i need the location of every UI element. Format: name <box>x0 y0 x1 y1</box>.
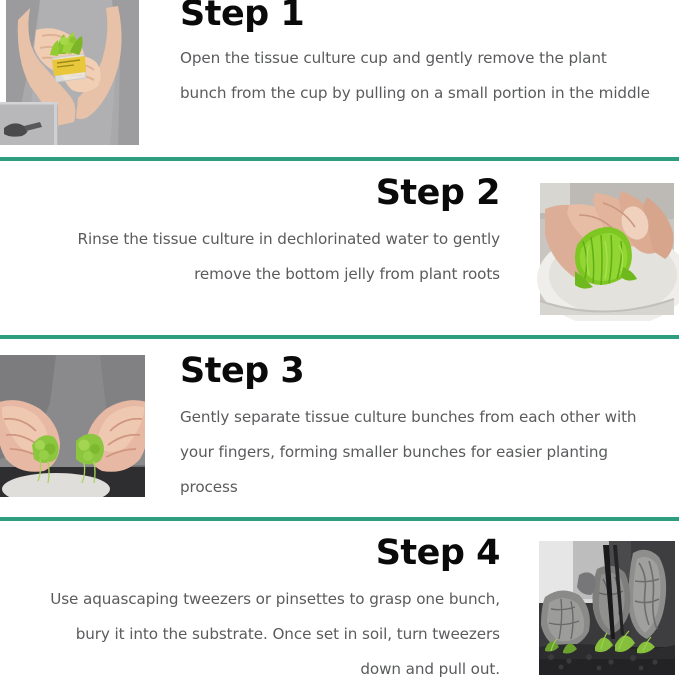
step-block-1: Step 1 Open the tissue culture cup and g… <box>0 0 679 157</box>
step-block-4: Step 4 Use aquascaping tweezers or pinse… <box>0 521 679 681</box>
step-3-title: Step 3 <box>180 353 651 390</box>
instruction-steps-infographic: Step 1 Open the tissue culture cup and g… <box>0 0 679 683</box>
step-4-body: Use aquascaping tweezers or pinsettes to… <box>40 582 500 687</box>
aquascape-rocks-with-tweezers-planting-icon <box>535 535 679 681</box>
step-2-body: Rinse the tissue culture in dechlorinate… <box>40 222 500 292</box>
step-4-text-column: Step 4 Use aquascaping tweezers or pinse… <box>0 535 535 687</box>
hands-separating-plant-bunches-icon <box>0 355 145 497</box>
step-block-2: Step 2 Rinse the tissue culture in dechl… <box>0 161 679 335</box>
step-1-photo <box>0 0 145 145</box>
step-block-3: Step 3 Gently separate tissue culture bu… <box>0 339 679 517</box>
hands-rinsing-plant-in-bowl-icon <box>535 175 679 321</box>
step-2-text-column: Step 2 Rinse the tissue culture in dechl… <box>0 175 535 292</box>
step-2-title: Step 2 <box>40 175 500 212</box>
step-1-body: Open the tissue culture cup and gently r… <box>180 41 651 111</box>
step-4-photo <box>535 535 679 681</box>
step-3-body: Gently separate tissue culture bunches f… <box>180 400 651 505</box>
step-3-text-column: Step 3 Gently separate tissue culture bu… <box>145 355 679 505</box>
step-1-text-column: Step 1 Open the tissue culture cup and g… <box>145 0 679 111</box>
step-3-photo <box>0 355 145 497</box>
step-1-title: Step 1 <box>180 0 651 33</box>
hands-opening-tissue-culture-cup-icon <box>0 0 145 145</box>
step-2-photo <box>535 175 679 321</box>
step-4-title: Step 4 <box>40 535 500 572</box>
